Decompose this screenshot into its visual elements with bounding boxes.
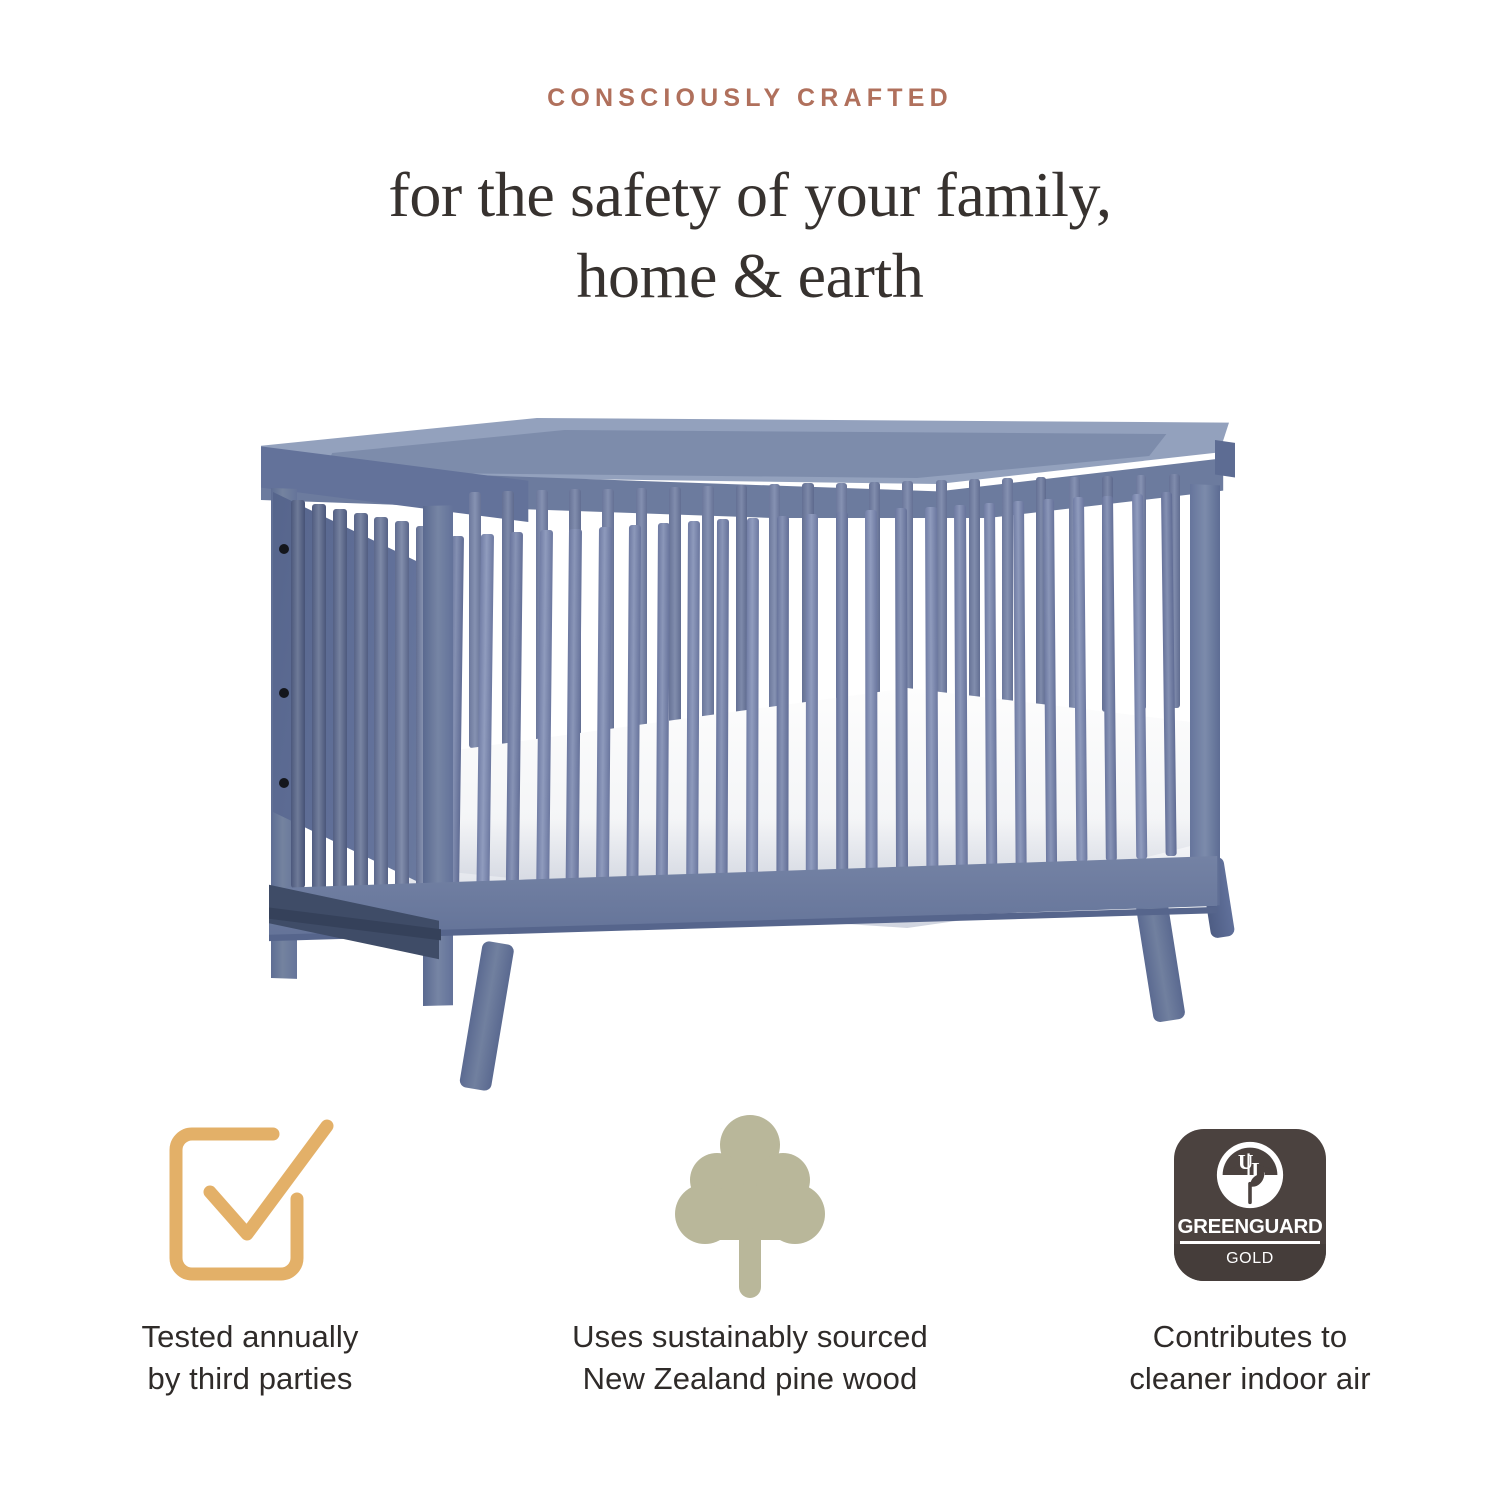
crib-corner-post-right (1190, 484, 1220, 905)
caption-line-1: Tested annually (142, 1316, 359, 1358)
tree-icon (665, 1110, 835, 1300)
headline-line-2: home & earth (0, 236, 1500, 317)
caption-line-1: Contributes to (1129, 1316, 1370, 1358)
marketing-image-canvas: CONSCIOUSLY CRAFTED for the safety of yo… (0, 0, 1500, 1500)
caption-line-2: New Zealand pine wood (572, 1358, 928, 1400)
caption-line-2: cleaner indoor air (1129, 1358, 1370, 1400)
crib-slat (312, 504, 326, 891)
mattress-height-hole (279, 544, 289, 554)
feature-caption-air-quality: Contributes to cleaner indoor air (1129, 1316, 1370, 1399)
feature-row: Tested annually by third parties (0, 1110, 1500, 1399)
greenguard-level: GOLD (1174, 1250, 1326, 1268)
headline-line-1: for the safety of your family, (0, 155, 1500, 236)
caption-line-1: Uses sustainably sourced (572, 1316, 928, 1358)
page-title: for the safety of your family, home & ea… (0, 155, 1500, 316)
feature-item-wood: Uses sustainably sourced New Zealand pin… (500, 1110, 1000, 1399)
crib-slat (395, 521, 409, 903)
header-block: CONSCIOUSLY CRAFTED for the safety of yo… (0, 86, 1500, 316)
greenguard-title: GREENGUARD (1174, 1215, 1326, 1239)
feature-caption-wood: Uses sustainably sourced New Zealand pin… (572, 1316, 928, 1399)
crib-slat (333, 509, 347, 895)
eyebrow-text: CONSCIOUSLY CRAFTED (0, 86, 1500, 111)
greenguard-gold-badge-icon: U L GREENGUARD GOLD (1174, 1110, 1326, 1300)
crib-slat (354, 513, 368, 898)
crib-illustration (255, 388, 1245, 1088)
feature-item-air-quality: U L GREENGUARD GOLD Contributes to clean… (1000, 1110, 1500, 1399)
mattress-height-hole (279, 778, 289, 788)
feature-caption-tested: Tested annually by third parties (142, 1316, 359, 1399)
product-image (0, 360, 1500, 1120)
check-square-icon (155, 1110, 345, 1300)
crib-left-end-slats (255, 388, 1245, 1088)
feature-item-tested: Tested annually by third parties (0, 1110, 500, 1399)
greenguard-badge: U L GREENGUARD GOLD (1174, 1129, 1326, 1281)
crib-slat (291, 500, 305, 888)
ul-leaf-mark-icon: U L (1214, 1139, 1286, 1211)
caption-line-2: by third parties (142, 1358, 359, 1400)
crib-slat (374, 517, 388, 900)
mattress-height-hole (279, 688, 289, 698)
